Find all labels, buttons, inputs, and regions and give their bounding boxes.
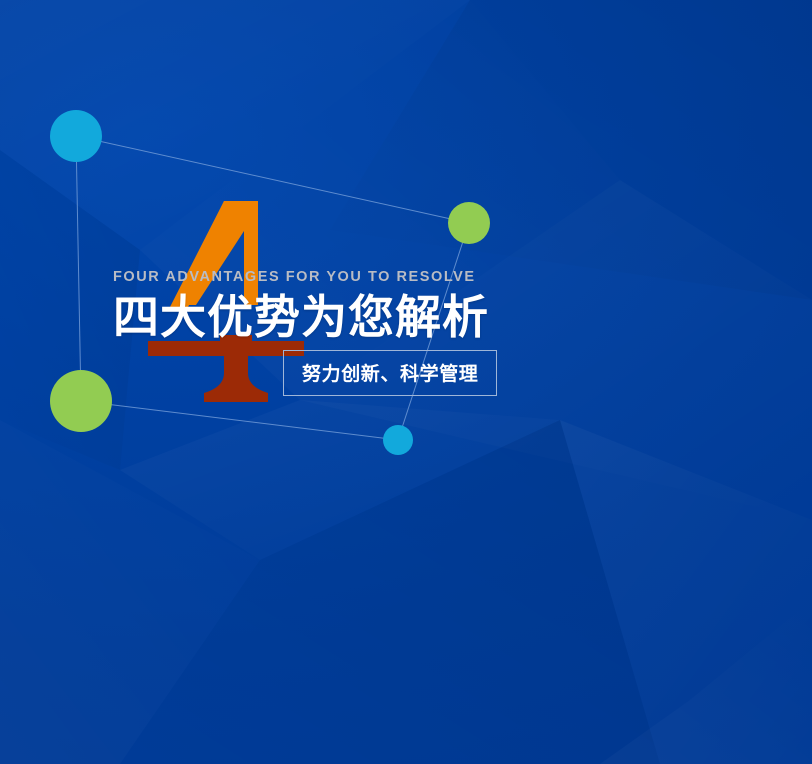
node-green-right	[448, 202, 490, 244]
banner-eyebrow: FOUR ADVANTAGES FOR YOU TO RESOLVE	[113, 270, 713, 285]
connector-cyan-to-green-left	[76, 136, 81, 401]
banner-canvas: FOUR ADVANTAGES FOR YOU TO RESOLVE 四大优势为…	[0, 0, 812, 764]
node-cyan-bottom	[383, 425, 413, 455]
banner-headline: 四大优势为您解析	[113, 293, 713, 341]
connector-green-left-to-cyan-bottom	[81, 401, 398, 440]
node-green-bottom-left	[50, 370, 112, 432]
node-cyan-top-left	[50, 110, 102, 162]
banner-tag-button[interactable]: 努力创新、科学管理	[283, 350, 497, 396]
banner-text-block: FOUR ADVANTAGES FOR YOU TO RESOLVE 四大优势为…	[113, 270, 713, 341]
